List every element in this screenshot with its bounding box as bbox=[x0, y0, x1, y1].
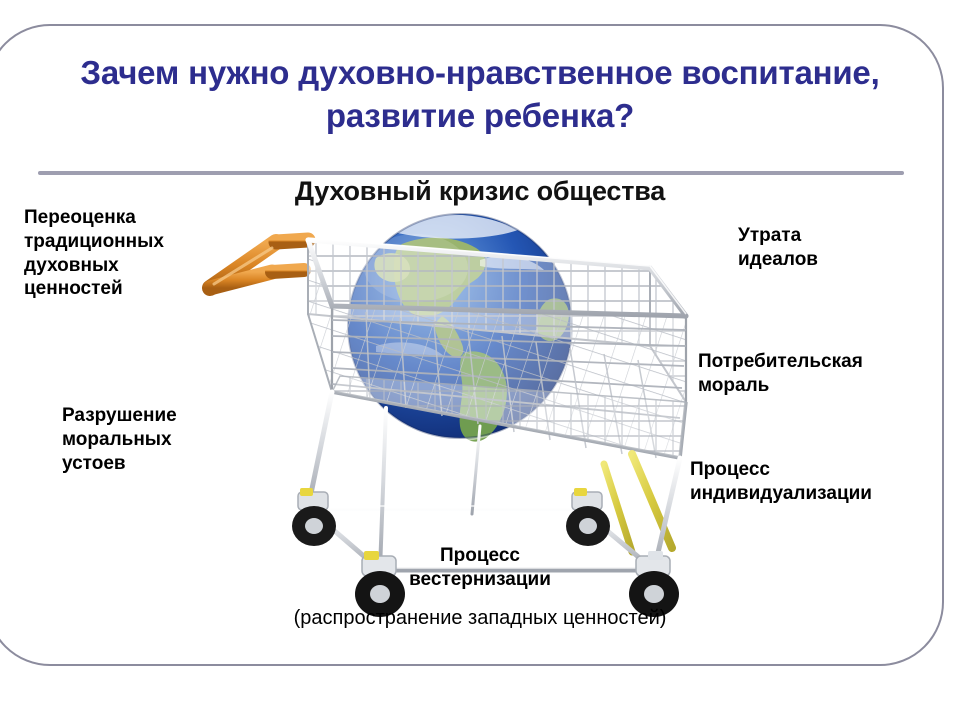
cart-handle-graphic bbox=[210, 240, 308, 288]
label-loss-of-ideals: Утрата идеалов bbox=[738, 224, 818, 272]
page-title: Зачем нужно духовно-нравственное воспита… bbox=[60, 52, 900, 138]
label-westernization-process: Процесс вестернизации bbox=[0, 544, 960, 592]
cart-basket-graphic bbox=[308, 238, 686, 458]
label-destruction-of-morals: Разрушение моральных устоев bbox=[62, 404, 177, 475]
slide-canvas: Зачем нужно духовно-нравственное воспита… bbox=[0, 0, 960, 720]
label-individualization-process: Процесс индивидуализации bbox=[690, 458, 872, 506]
label-consumer-morality: Потребительская мораль bbox=[698, 350, 863, 398]
title-divider bbox=[38, 171, 904, 175]
label-reappraisal-of-values: Переоценка традиционных духовных ценност… bbox=[24, 206, 164, 301]
label-westernization-note: (распространение западных ценностей) bbox=[0, 606, 960, 631]
